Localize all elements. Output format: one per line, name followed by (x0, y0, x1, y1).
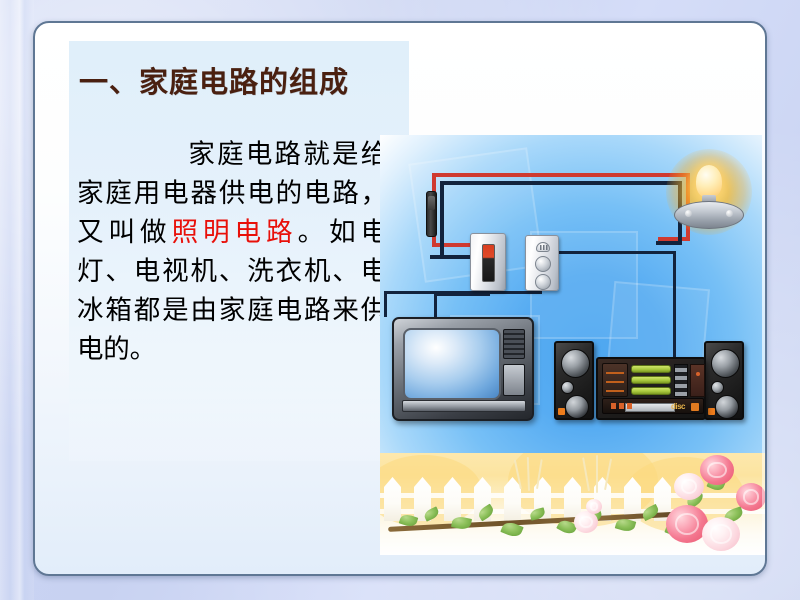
speaker-right-icon (704, 341, 744, 420)
rose-icon (736, 483, 765, 511)
neutral-wire-left-drop (440, 181, 444, 259)
tv-control-panel-icon (503, 364, 525, 396)
wire-tv-riser (384, 291, 387, 317)
neutral-wire-to-switch (430, 255, 474, 259)
speaker-led-icon (708, 408, 715, 415)
speaker-tweeter-icon (561, 381, 574, 394)
fence-picket (444, 477, 461, 521)
neutral-wire-top (440, 181, 682, 185)
speaker-tweeter-icon (711, 381, 724, 394)
rose-icon (586, 499, 602, 514)
stereo-button-bank-icon (674, 364, 688, 397)
outlet-ground-slot-icon (536, 242, 550, 252)
stereo-display-bar-icon (631, 376, 671, 384)
stereo-disc-label: disc (671, 402, 685, 411)
speaker-woofer-icon (561, 349, 590, 378)
speaker-midrange-icon (565, 395, 589, 419)
wire-stereo-drop (673, 251, 676, 359)
speaker-woofer-icon (711, 349, 740, 378)
speaker-midrange-icon (715, 395, 739, 419)
body-paragraph: 家庭电路就是给家庭用电器供电的电路，又叫做照明电路。如电灯、电视机、洗衣机、电冰… (77, 135, 387, 369)
light-bulb-icon (696, 165, 722, 198)
neutral-wire-to-lamp (656, 241, 682, 245)
stereo-receiver-icon: disc (596, 357, 706, 420)
floral-decoration-band (380, 453, 765, 555)
rose-icon (674, 473, 704, 500)
decorative-frame-bands (0, 0, 34, 600)
tv-speaker-grille-icon (503, 329, 525, 359)
rose-icon (700, 455, 734, 485)
leaf-icon (451, 515, 472, 531)
slide-card: 一、家庭电路的组成 家庭电路就是给家庭用电器供电的电路，又叫做照明电路。如电灯、… (33, 21, 767, 576)
television-icon (392, 317, 534, 421)
lamp-fixture-icon (674, 201, 744, 229)
slide-outer-background: 一、家庭电路的组成 家庭电路就是给家庭用电器供电的电路，又叫做照明电路。如电灯、… (0, 0, 800, 600)
wire-tv-lead-run (434, 293, 490, 296)
stereo-disc-tray-icon: disc (602, 398, 704, 414)
outlet-socket-icon (535, 256, 551, 272)
rose-icon (574, 511, 598, 533)
fence-picket (384, 477, 401, 521)
circuit-diagram-scene: disc (380, 135, 765, 453)
breaker-box-icon (426, 191, 437, 237)
wall-outlet[interactable] (525, 235, 559, 291)
live-wire-top (432, 173, 690, 177)
wheat-wisp (596, 455, 598, 493)
body-text-highlight: 照明电路 (172, 217, 298, 247)
tv-base (402, 400, 526, 412)
stereo-display-bar-icon (631, 365, 671, 373)
stereo-side-panel-icon (690, 364, 705, 397)
picture-right-edge (762, 135, 765, 555)
speaker-left-icon (554, 341, 594, 420)
illustration-image: disc (380, 135, 765, 555)
light-switch[interactable] (470, 233, 506, 291)
speaker-led-icon (558, 408, 565, 415)
page-title: 一、家庭电路的组成 (79, 59, 349, 101)
live-wire-to-switch (432, 243, 474, 247)
wire-tv-lead (434, 293, 437, 319)
outlet-socket-icon (535, 274, 551, 290)
rose-icon (702, 517, 740, 551)
wire-outlet-to-stereo (558, 251, 676, 254)
stereo-equalizer-sliders-icon (602, 363, 628, 397)
switch-toggle-icon[interactable] (482, 244, 495, 282)
stereo-transport-buttons-icon (611, 403, 633, 409)
stereo-power-knob-icon (691, 403, 699, 411)
stereo-display-bar-icon (631, 387, 671, 395)
tv-screen (403, 328, 501, 400)
